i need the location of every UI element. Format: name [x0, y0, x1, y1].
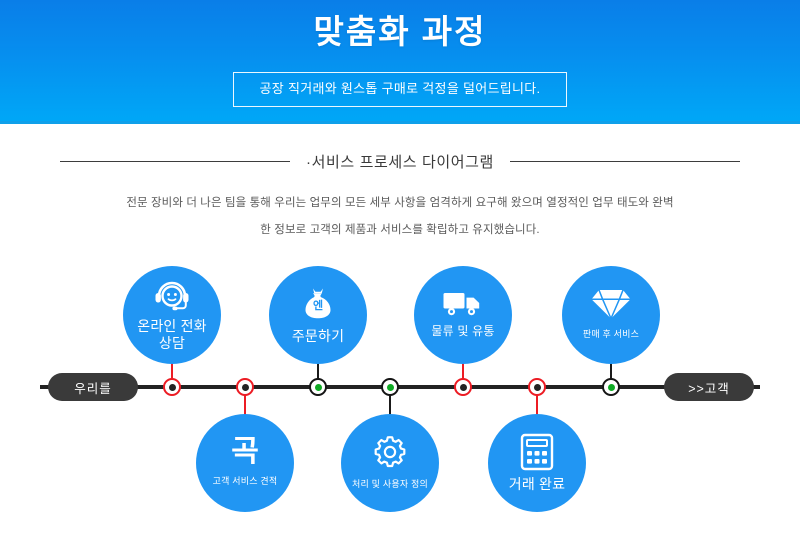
step-label-line-2: 상담: [153, 335, 191, 352]
timeline-node-6[interactable]: [528, 378, 546, 396]
hero-subtitle-wrap: 공장 직거래와 원스톱 구매로 걱정을 덜어드립니다.: [0, 72, 800, 107]
timeline-node-5[interactable]: [454, 378, 472, 396]
step-label: 거래 완료: [503, 476, 571, 493]
page-title: 맞춤화 과정: [0, 10, 800, 54]
gear-icon: [371, 433, 409, 471]
node-dot: [534, 384, 541, 391]
step-label: 주문하기: [286, 328, 350, 345]
node-dot: [608, 384, 615, 391]
svg-text:엔: 엔: [313, 298, 323, 312]
section-rule-right: [510, 161, 740, 162]
truck-icon: [442, 290, 484, 318]
section-header: ·서비스 프로세스 다이어그램: [60, 150, 740, 172]
step-transaction-complete[interactable]: 거래 완료: [488, 414, 586, 512]
money-bag-icon: 엔: [299, 285, 337, 323]
page-root: 맞춤화 과정 공장 직거래와 원스톱 구매로 걱정을 덜어드립니다. ·서비스 …: [0, 0, 800, 540]
timeline-node-1[interactable]: [163, 378, 181, 396]
section-title: ·서비스 프로세스 다이어그램: [290, 151, 510, 172]
section-rule-left: [60, 161, 290, 162]
quote-glyph-icon: 곡: [231, 436, 259, 468]
step-after-sales-service[interactable]: 판매 후 서비스: [562, 266, 660, 364]
step-label-line-1: 온라인 전화: [131, 318, 213, 335]
step-logistics[interactable]: 물류 및 유통: [414, 266, 512, 364]
node-dot: [387, 384, 394, 391]
step-label: 물류 및 유통: [425, 323, 500, 340]
calculator-icon: [520, 433, 554, 471]
node-dot: [169, 384, 176, 391]
timeline-node-3[interactable]: [309, 378, 327, 396]
step-service-quote[interactable]: 곡 고객 서비스 견적: [196, 414, 294, 512]
headset-icon: [152, 279, 192, 313]
hero-banner: 맞춤화 과정 공장 직거래와 원스톱 구매로 걱정을 덜어드립니다.: [0, 0, 800, 124]
step-place-order[interactable]: 엔 주문하기: [269, 266, 367, 364]
timeline-start-label: 우리를: [48, 373, 138, 401]
step-online-consultation[interactable]: 온라인 전화 상담: [123, 266, 221, 364]
step-processing-customization[interactable]: 처리 및 사용자 정의: [341, 414, 439, 512]
node-dot: [460, 384, 467, 391]
node-dot: [315, 384, 322, 391]
section-description-line-1: 전문 장비와 더 나은 팀을 통해 우리는 업무의 모든 세부 사항을 엄격하게…: [78, 190, 722, 217]
timeline-node-4[interactable]: [381, 378, 399, 396]
quote-glyph-char: 곡: [231, 435, 259, 468]
diamond-icon: [590, 287, 632, 321]
timeline-end-label: >>고객: [664, 373, 754, 401]
node-dot: [242, 384, 249, 391]
step-label: 판매 후 서비스: [577, 326, 645, 343]
hero-baseline-divider: [0, 121, 800, 124]
timeline-node-2[interactable]: [236, 378, 254, 396]
timeline-track: [40, 385, 760, 389]
step-label: 고객 서비스 견적: [207, 473, 284, 490]
section-description: 전문 장비와 더 나은 팀을 통해 우리는 업무의 모든 세부 사항을 엄격하게…: [78, 190, 722, 244]
timeline-node-7[interactable]: [602, 378, 620, 396]
section-description-line-2: 한 정보로 고객의 제품과 서비스를 확립하고 유지했습니다.: [78, 217, 722, 244]
step-label: 처리 및 사용자 정의: [346, 476, 434, 493]
hero-subtitle-box: 공장 직거래와 원스톱 구매로 걱정을 덜어드립니다.: [233, 72, 568, 107]
